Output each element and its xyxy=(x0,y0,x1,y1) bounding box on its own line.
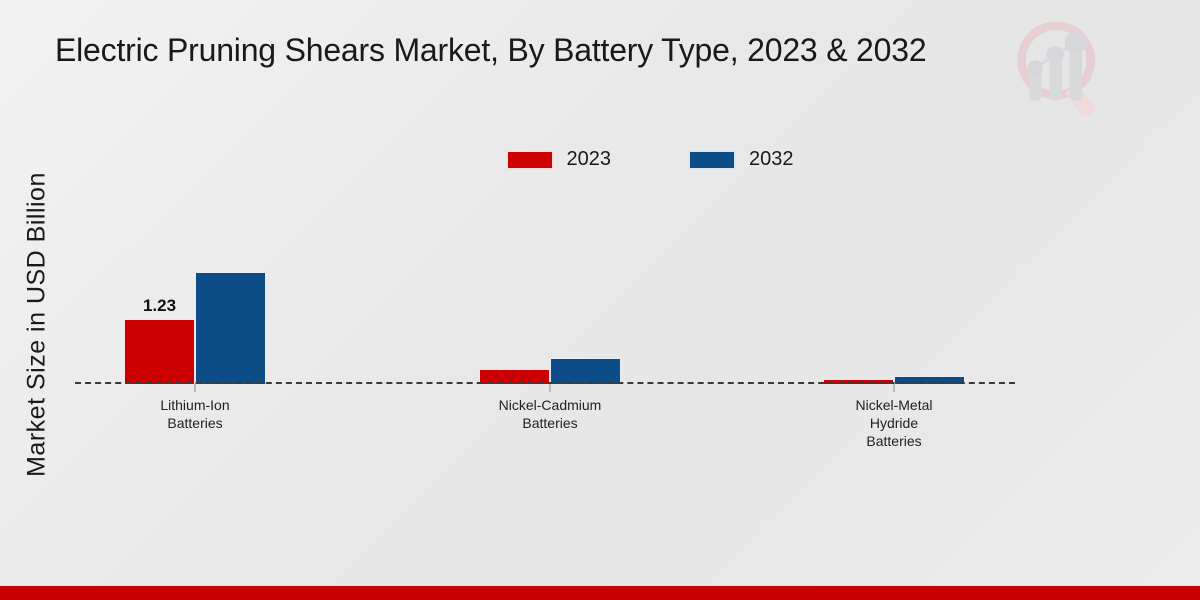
footer-accent-bar xyxy=(0,586,1200,600)
y-axis-title: Market Size in USD Billion xyxy=(23,65,52,585)
legend-item-2023[interactable]: 2023 xyxy=(507,148,612,171)
market-research-logo-watermark xyxy=(1012,18,1108,118)
bar-value-label: 1.23 xyxy=(143,296,176,316)
legend-label-2023: 2023 xyxy=(567,148,612,171)
bar-2032-nickel-cadmium[interactable] xyxy=(550,358,621,384)
bar-wrap-2032 xyxy=(550,358,621,384)
bar-2023-lithium-ion[interactable] xyxy=(124,319,195,384)
chart-page: Electric Pruning Shears Market, By Batte… xyxy=(0,0,1200,600)
category-label-nickel-cadmium: Nickel-Cadmium Batteries xyxy=(455,396,645,432)
plot-area: 1.23 Lithium-Ion Batteries Nickel-Cadmiu… xyxy=(75,180,1015,384)
legend-item-2032[interactable]: 2032 xyxy=(689,148,794,171)
axis-tick xyxy=(195,384,196,392)
bar-wrap-2023: 1.23 xyxy=(124,319,195,384)
x-axis-baseline xyxy=(75,382,1015,384)
axis-tick xyxy=(894,384,895,392)
bar-wrap-2032 xyxy=(195,272,266,384)
bar-group-nickel-cadmium: Nickel-Cadmium Batteries xyxy=(479,358,621,384)
bar-group-lithium-ion: 1.23 Lithium-Ion Batteries xyxy=(124,272,266,384)
category-label-nickel-metal-hydride: Nickel-Metal Hydride Batteries xyxy=(799,396,989,450)
chart-legend: 2023 2032 xyxy=(0,148,1200,171)
legend-label-2032: 2032 xyxy=(749,148,794,171)
axis-tick xyxy=(550,384,551,392)
bar-2032-lithium-ion[interactable] xyxy=(195,272,266,384)
legend-swatch-2032 xyxy=(689,151,735,169)
legend-swatch-2023 xyxy=(507,151,553,169)
category-label-lithium-ion: Lithium-Ion Batteries xyxy=(100,396,290,432)
chart-title: Electric Pruning Shears Market, By Batte… xyxy=(55,32,995,69)
